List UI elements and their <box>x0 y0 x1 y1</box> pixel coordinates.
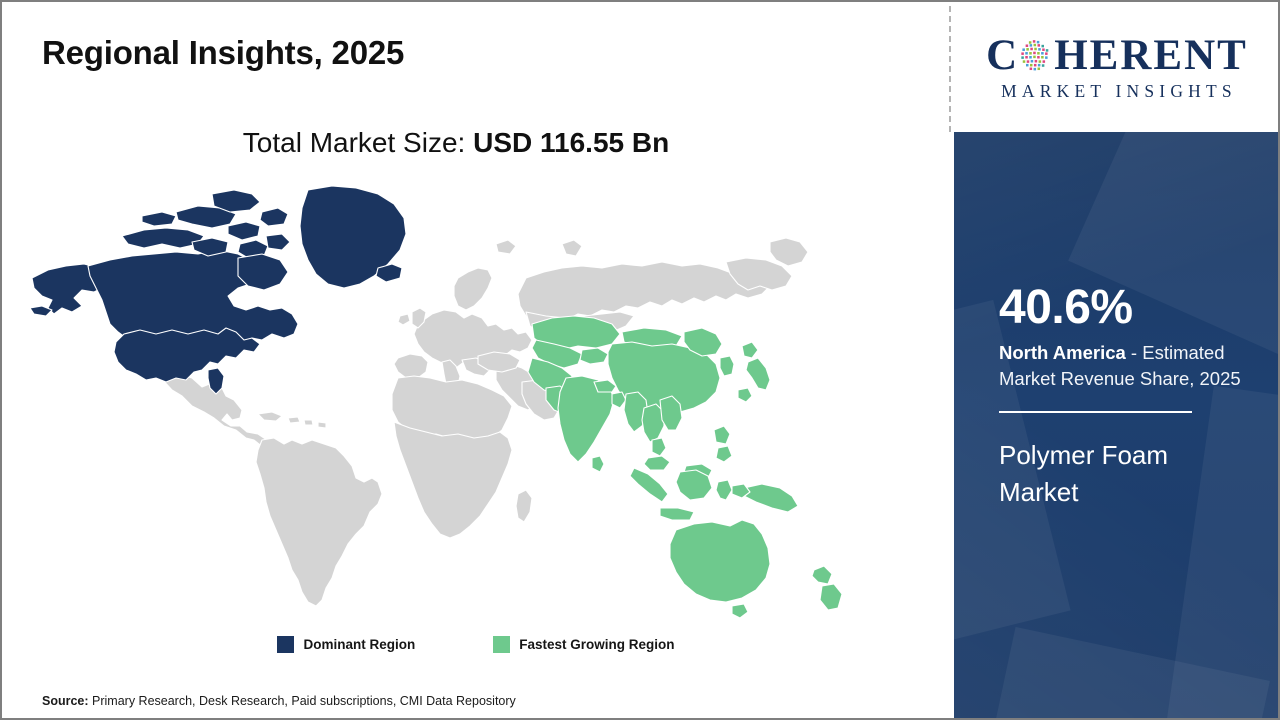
stat-divider <box>999 411 1192 413</box>
source-label: Source: <box>42 694 92 708</box>
market-size-value: USD 116.55 Bn <box>473 127 669 158</box>
stat-content: 40.6% North America - Estimated Market R… <box>999 284 1269 511</box>
stat-description: North America - Estimated Market Revenue… <box>999 340 1261 393</box>
logo-subtitle: MARKET INSIGHTS <box>967 81 1267 102</box>
world-map-svg <box>26 182 906 622</box>
stat-region-name: North America <box>999 342 1126 363</box>
source-text: Primary Research, Desk Research, Paid su… <box>92 694 516 708</box>
regional-insights-slide: Regional Insights, 2025 Total Market Siz… <box>0 0 1280 720</box>
map-region-fastest-growing <box>528 316 842 618</box>
map-region-dominant <box>30 186 406 394</box>
legend-label-dominant: Dominant Region <box>303 637 415 652</box>
map-legend: Dominant Region Fastest Growing Region <box>2 636 950 653</box>
vertical-divider <box>949 6 951 132</box>
logo-inner: C <box>967 33 1267 102</box>
map-content-area: Regional Insights, 2025 Total Market Siz… <box>2 2 950 720</box>
logo-wordmark: C <box>967 33 1267 79</box>
globe-dots-icon <box>1017 38 1053 74</box>
page-title: Regional Insights, 2025 <box>42 34 404 72</box>
square-swatch-icon <box>277 636 294 653</box>
logo-letter-c: C <box>986 34 1019 77</box>
source-line: Source: Primary Research, Desk Research,… <box>42 694 516 708</box>
world-map[interactable] <box>26 182 906 622</box>
market-name: Polymer Foam Market <box>999 437 1249 511</box>
square-swatch-icon <box>493 636 510 653</box>
logo-letters-herent: HERENT <box>1054 34 1248 77</box>
stat-panel: 40.6% North America - Estimated Market R… <box>954 132 1280 720</box>
stat-percent-value: 40.6% <box>999 284 1269 332</box>
legend-item-fastest-growing[interactable]: Fastest Growing Region <box>493 636 674 653</box>
total-market-size: Total Market Size: USD 116.55 Bn <box>2 127 910 159</box>
market-size-label: Total Market Size: <box>243 127 473 158</box>
legend-item-dominant[interactable]: Dominant Region <box>277 636 415 653</box>
brand-logo[interactable]: C <box>954 2 1280 132</box>
legend-label-fastest-growing: Fastest Growing Region <box>519 637 674 652</box>
